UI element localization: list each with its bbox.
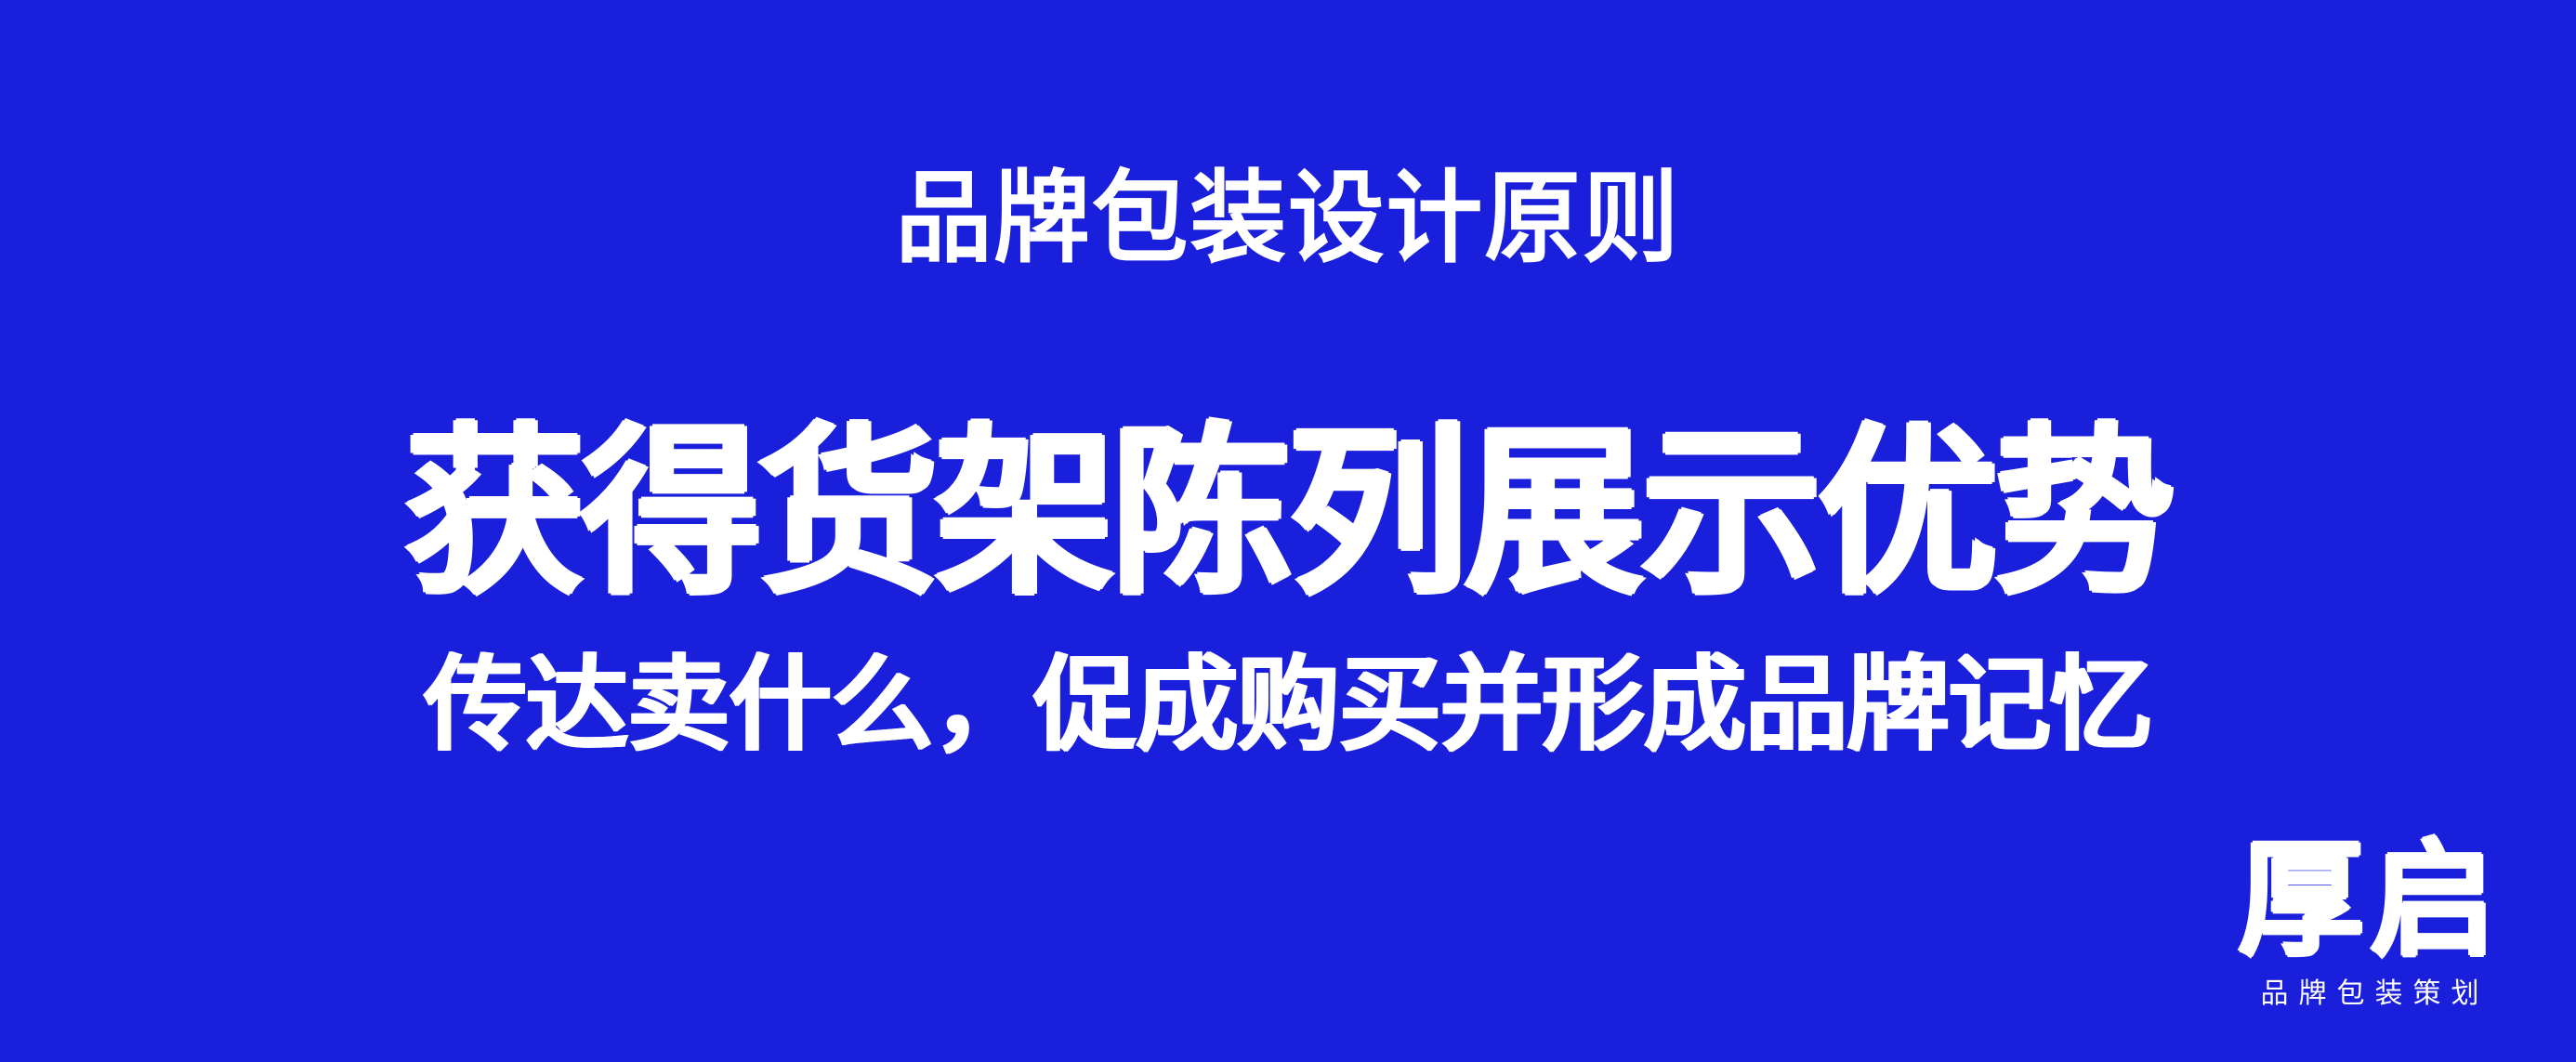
eyebrow-heading: 品牌包装设计原则 <box>51 165 2524 270</box>
main-text-block: 获得货架陈列展示优势 传达卖什么，促成购买并形成品牌记忆 <box>0 423 2576 757</box>
page-title: 获得货架陈列展示优势 <box>13 423 2563 605</box>
page-subtitle: 传达卖什么，促成购买并形成品牌记忆 <box>20 605 2556 757</box>
slide-canvas: 品牌包装设计原则 获得货架陈列展示优势 传达卖什么，促成购买并形成品牌记忆 厚启… <box>0 0 2576 1062</box>
brand-logo-lockup: 厚启 品牌包装策划 <box>2230 837 2509 1008</box>
brand-logo-mark: 厚启 <box>2230 837 2509 964</box>
